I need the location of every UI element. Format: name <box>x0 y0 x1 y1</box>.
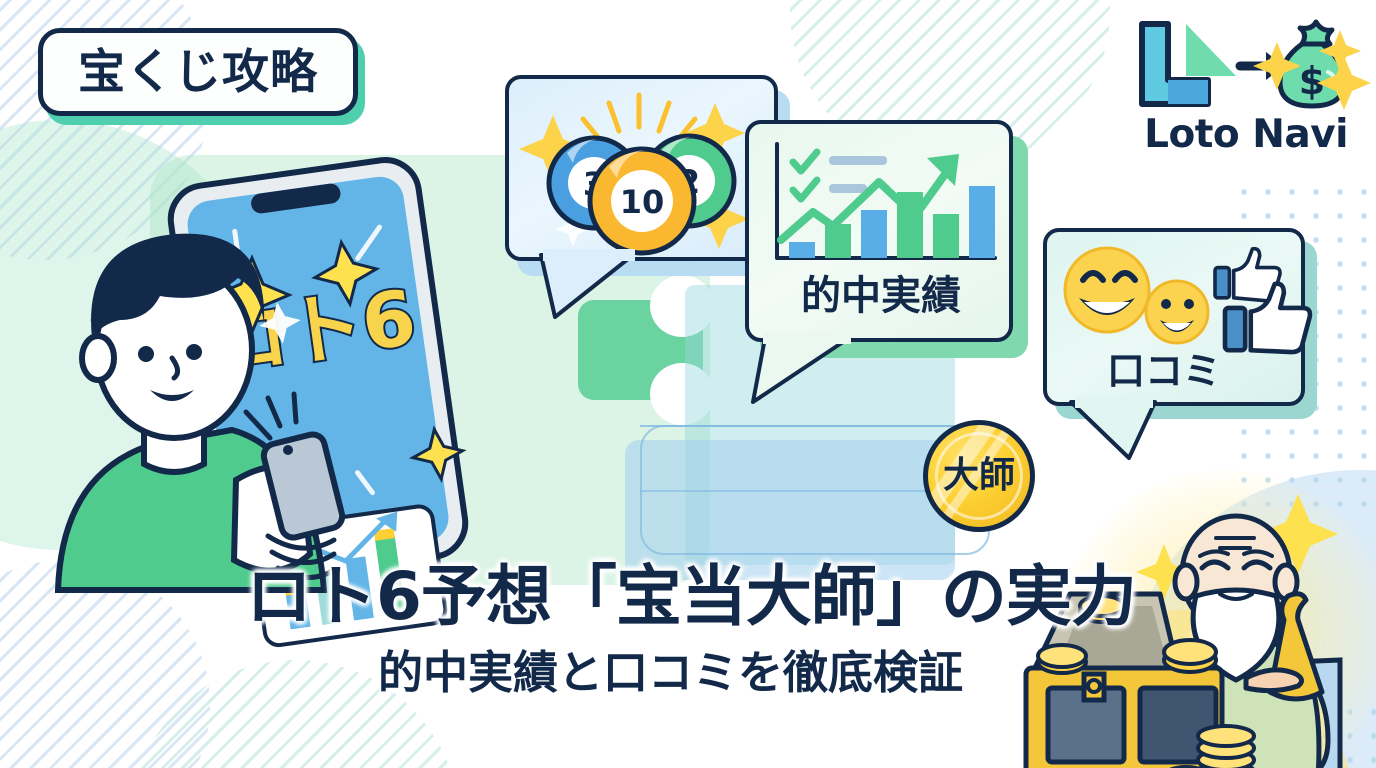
check-icon <box>793 152 817 199</box>
bubble-reviews: 口コミ <box>1043 228 1305 406</box>
smiley-face-icon <box>1146 281 1208 343</box>
bubble-lottery-balls: 3 2 10 <box>505 75 778 261</box>
bar-chart-icon <box>767 140 999 270</box>
bubble-label-hit-record: 的中実績 <box>801 276 961 316</box>
svg-text:10: 10 <box>620 183 665 221</box>
placeholder-line <box>829 184 867 193</box>
smiley-face-icon <box>1065 248 1149 332</box>
bg-line-2 <box>640 490 940 492</box>
burst-rays-icon <box>583 95 695 141</box>
category-badge-label: 宝くじ攻略 <box>78 49 318 96</box>
left-illustration: ロト6 <box>40 150 560 590</box>
l-shape-icon <box>1142 24 1236 104</box>
bg-line-1 <box>640 425 990 427</box>
hero-banner: ロト6 <box>0 0 1376 768</box>
coin-label: 大師 <box>943 458 1015 494</box>
logo-text: Loto Navi <box>1132 112 1348 157</box>
placeholder-line <box>829 156 887 165</box>
page-subtitle: 的中実績と口コミを徹底検証 <box>378 648 1018 698</box>
coin-badge-master: 大師 <box>923 420 1035 532</box>
bubble-label-reviews: 口コミ <box>1107 352 1221 390</box>
bg-plate-notch-top <box>650 275 714 337</box>
page-title: ロト6予想「宝当大師」の実力 <box>246 562 1146 631</box>
svg-text:$: $ <box>1299 59 1325 103</box>
site-logo[interactable]: $ Loto Navi <box>1132 18 1348 157</box>
category-badge-body: 宝くじ攻略 <box>38 28 358 116</box>
lottery-ball-orange: 10 <box>590 149 694 253</box>
bg-plate-notch-bottom <box>650 363 714 425</box>
category-badge: 宝くじ攻略 <box>38 28 358 116</box>
bubble-hit-record: 的中実績 <box>745 120 1013 342</box>
